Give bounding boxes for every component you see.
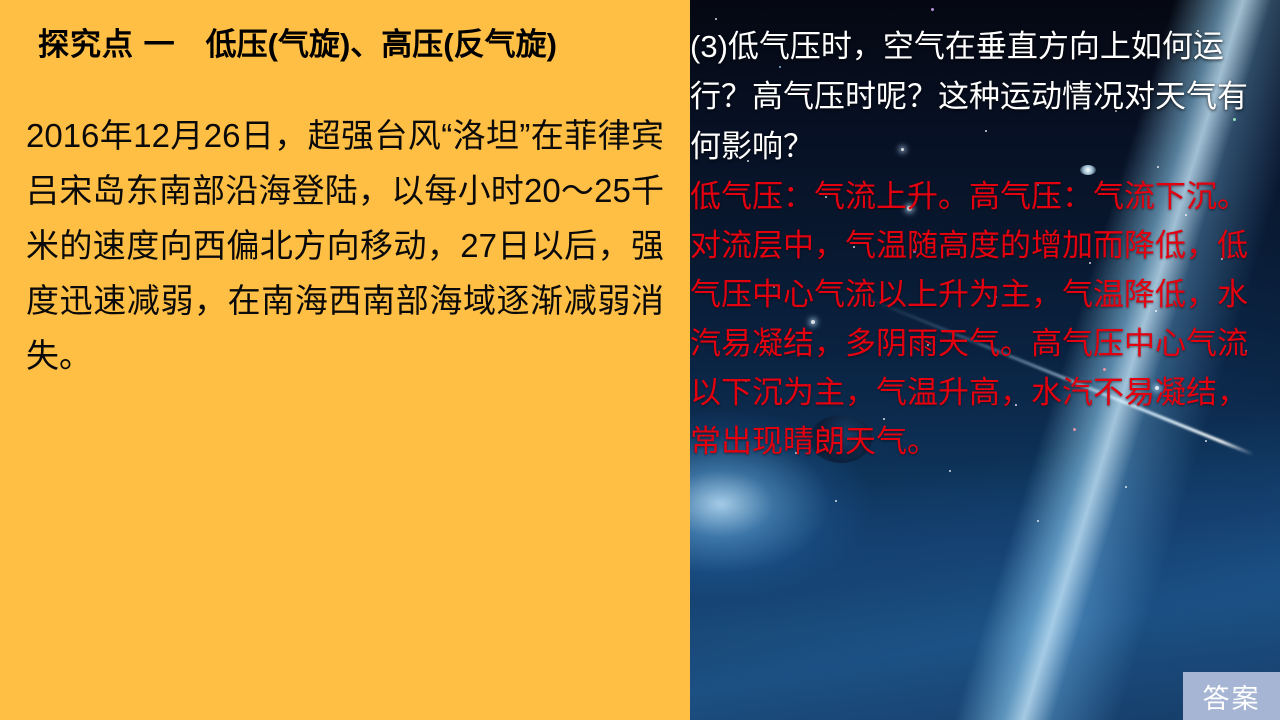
answer-line-1: 低气压：气流上升。高气压：气流下沉。 bbox=[690, 172, 1275, 221]
right-text-block: (3)低气压时，空气在垂直方向上如何运行？高气压时呢？这种运动情况对天气有何影响… bbox=[690, 22, 1275, 466]
answer-button-label: 答案 bbox=[1203, 677, 1261, 716]
page-title: 探究点 一 低压(气旋)、高压(反气旋) bbox=[38, 19, 557, 64]
title-point-label: 探究点 一 bbox=[38, 19, 176, 64]
answer-line-2: 对流层中，气温随高度的增加而降低，低气压中心气流以上升为主，气温降低，水汽易凝结… bbox=[690, 221, 1275, 466]
slide-root: (3)低气压时，空气在垂直方向上如何运行？高气压时呢？这种运动情况对天气有何影响… bbox=[0, 0, 1280, 720]
case-study-text: 2016年12月26日，超强台风“洛坦”在菲律宾吕宋岛东南部沿海登陆，以每小时2… bbox=[26, 108, 664, 383]
title-topic: 低压(气旋)、高压(反气旋) bbox=[206, 19, 557, 64]
right-answer-panel: (3)低气压时，空气在垂直方向上如何运行？高气压时呢？这种运动情况对天气有何影响… bbox=[685, 0, 1280, 720]
answer-button[interactable]: 答案 bbox=[1183, 672, 1280, 720]
question-text: (3)低气压时，空气在垂直方向上如何运行？高气压时呢？这种运动情况对天气有何影响… bbox=[690, 22, 1275, 172]
left-case-panel: 探究点 一 低压(气旋)、高压(反气旋) 2016年12月26日，超强台风“洛坦… bbox=[0, 0, 690, 720]
